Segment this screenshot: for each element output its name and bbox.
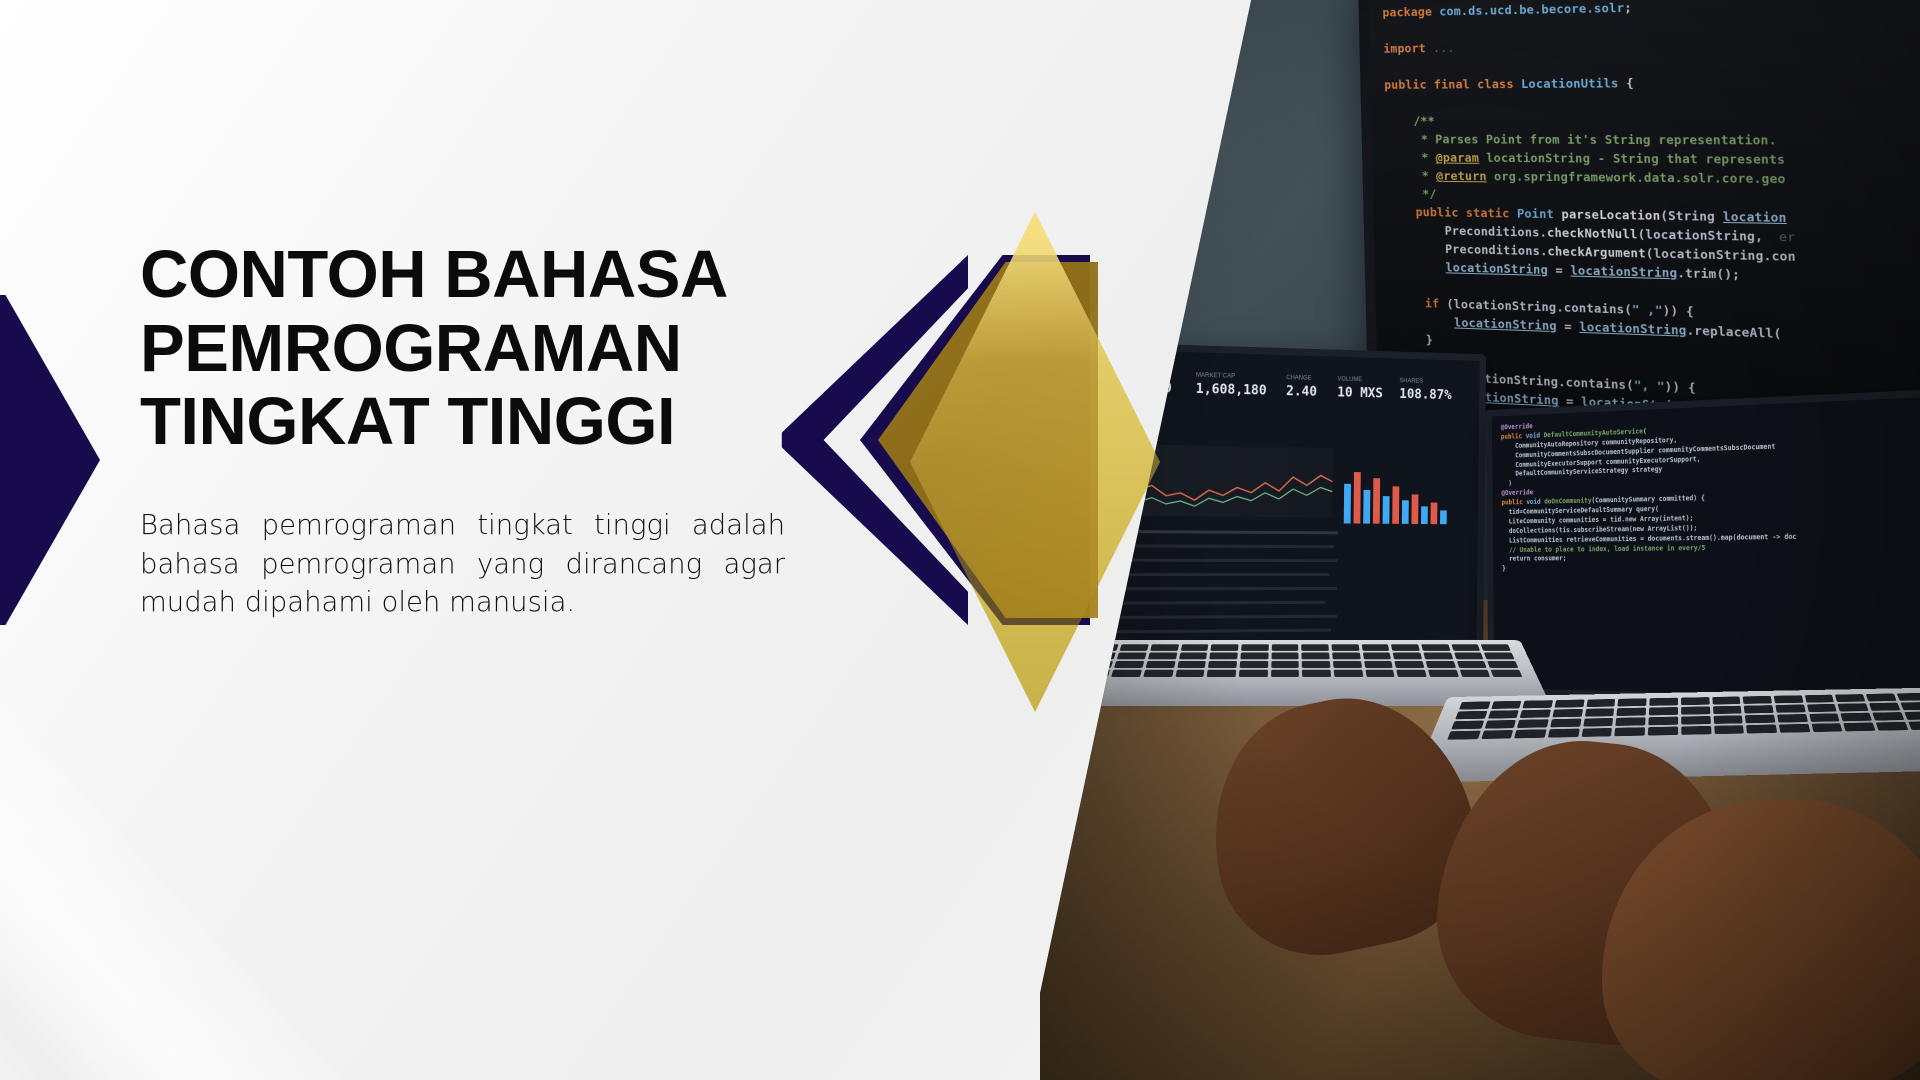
decorative-diamond-group — [760, 150, 1120, 710]
title-line-1: CONTOH BAHASA — [140, 238, 800, 312]
text-block: CONTOH BAHASA PEMROGRAMAN TINGKAT TINGGI… — [140, 238, 800, 622]
slide-canvas: package com.ds.ucd.be.becore.solr; impor… — [0, 0, 1920, 1080]
title-line-3: TINGKAT TINGGI — [140, 385, 800, 459]
body-paragraph: Bahasa pemrograman tingkat tinggi adalah… — [140, 506, 785, 622]
page-title: CONTOH BAHASA PEMROGRAMAN TINGKAT TINGGI — [140, 238, 800, 459]
title-line-2: PEMROGRAMAN — [140, 312, 800, 386]
